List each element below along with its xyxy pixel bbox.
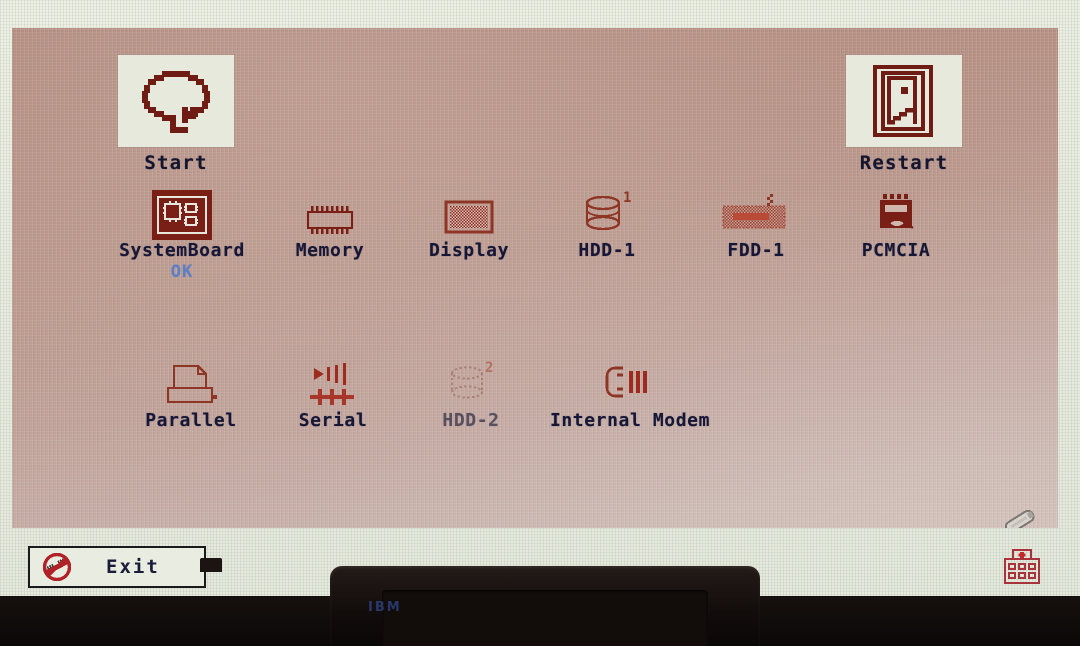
no-entry-icon <box>38 552 76 582</box>
photographed-laptop-screen: Start <box>0 0 1080 646</box>
laptop-lid: IBM <box>330 566 760 646</box>
serial-signal-icon <box>302 362 364 410</box>
parallel-label: Parallel <box>120 410 262 431</box>
hdd2-superscript: 2 <box>485 360 493 376</box>
display-label: Display <box>406 240 532 261</box>
device-hdd2[interactable]: 2 HDD-2 <box>416 358 526 431</box>
exit-button-label: Exit <box>106 556 160 578</box>
device-internal-modem[interactable]: Internal Modem <box>532 358 728 431</box>
memory-label: Memory <box>266 240 394 261</box>
device-pcmcia[interactable]: PCMCIA <box>832 188 960 261</box>
start-button[interactable]: Start <box>118 55 234 174</box>
hard-disk-icon: 1 <box>575 190 639 240</box>
hdd1-icon-wrap: 1 <box>552 188 662 240</box>
serial-label: Serial <box>274 410 392 431</box>
chip-board-icon <box>152 190 212 240</box>
restart-button-label: Restart <box>846 152 962 174</box>
device-memory[interactable]: Memory <box>266 188 394 261</box>
memory-icon-wrap <box>266 188 394 240</box>
exit-button[interactable]: Exit <box>28 546 206 588</box>
device-fdd1[interactable]: FDD-1 <box>698 188 814 261</box>
hospital-icon[interactable] <box>1000 547 1044 587</box>
internal-modem-label: Internal Modem <box>532 410 728 431</box>
pcmcia-icon-wrap <box>832 188 960 240</box>
systemboard-icon-wrap <box>84 188 280 240</box>
systemboard-label: SystemBoard <box>84 240 280 261</box>
hdd1-label: HDD-1 <box>552 240 662 261</box>
fdd1-icon-wrap <box>698 188 814 240</box>
circular-arrow-icon <box>134 65 218 137</box>
device-hdd1[interactable]: 1 HDD-1 <box>552 188 662 261</box>
display-icon-wrap <box>406 188 532 240</box>
restart-button-tile[interactable] <box>846 55 962 147</box>
systemboard-status: OK <box>84 262 280 282</box>
ibm-logo: IBM <box>368 600 402 615</box>
parallel-icon-wrap <box>120 358 262 410</box>
start-button-label: Start <box>118 152 234 174</box>
restart-button[interactable]: Restart <box>846 55 962 174</box>
hdd2-icon-wrap: 2 <box>416 358 526 410</box>
laptop-latch <box>200 558 222 572</box>
monitor-icon <box>438 194 500 240</box>
hard-disk-icon: 2 <box>439 360 503 410</box>
hdd2-label: HDD-2 <box>416 410 526 431</box>
laptop-lid-inner <box>382 590 708 646</box>
memory-chip-icon <box>299 200 361 240</box>
pcmcia-card-icon <box>865 190 927 240</box>
printer-icon <box>158 362 224 410</box>
serial-icon-wrap <box>274 358 392 410</box>
door-icon <box>867 63 941 139</box>
device-display[interactable]: Display <box>406 188 532 261</box>
internal-modem-icon-wrap <box>532 358 728 410</box>
device-parallel[interactable]: Parallel <box>120 358 262 431</box>
start-button-tile[interactable] <box>118 55 234 147</box>
device-serial[interactable]: Serial <box>274 358 392 431</box>
device-systemboard[interactable]: SystemBoard OK <box>84 188 280 282</box>
floppy-drive-icon <box>717 192 795 240</box>
telephone-icon <box>597 362 663 410</box>
hdd1-superscript: 1 <box>623 190 631 206</box>
fdd1-label: FDD-1 <box>698 240 814 261</box>
thermometer-icon <box>997 500 1043 528</box>
pcmcia-label: PCMCIA <box>832 240 960 261</box>
diagnostics-panel: Start <box>12 28 1058 528</box>
